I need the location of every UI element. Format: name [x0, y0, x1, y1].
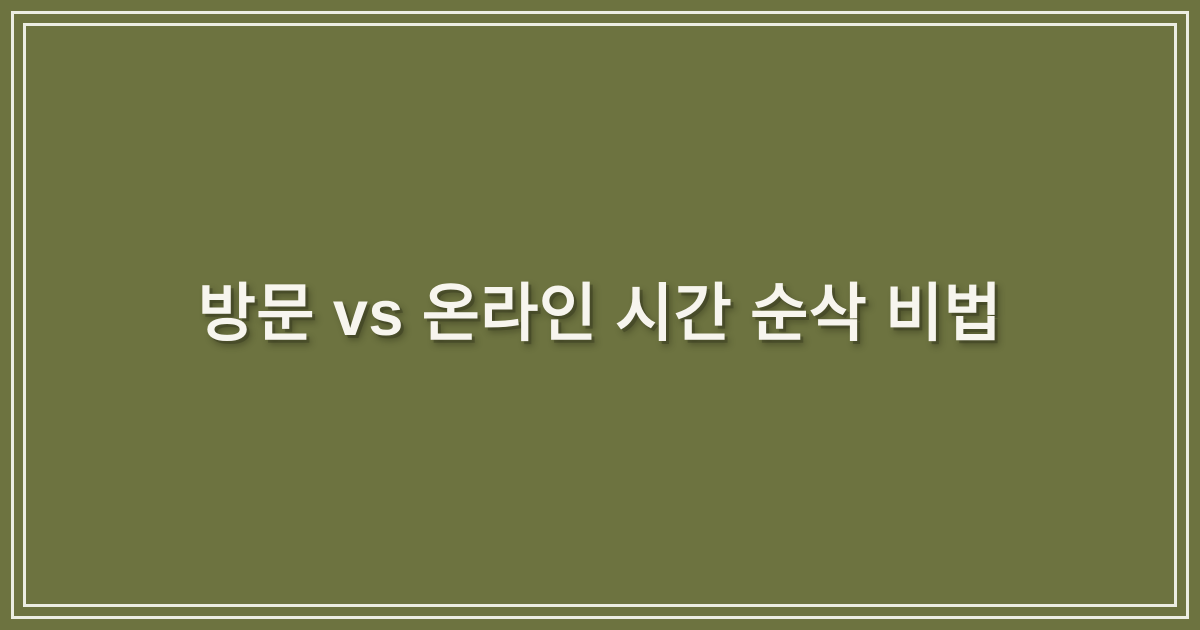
page-title: 방문 vs 온라인 시간 순삭 비법 [150, 273, 1050, 356]
title-block: 방문 vs 온라인 시간 순삭 비법 [110, 273, 1090, 356]
thumbnail-card: 방문 vs 온라인 시간 순삭 비법 [0, 0, 1200, 630]
